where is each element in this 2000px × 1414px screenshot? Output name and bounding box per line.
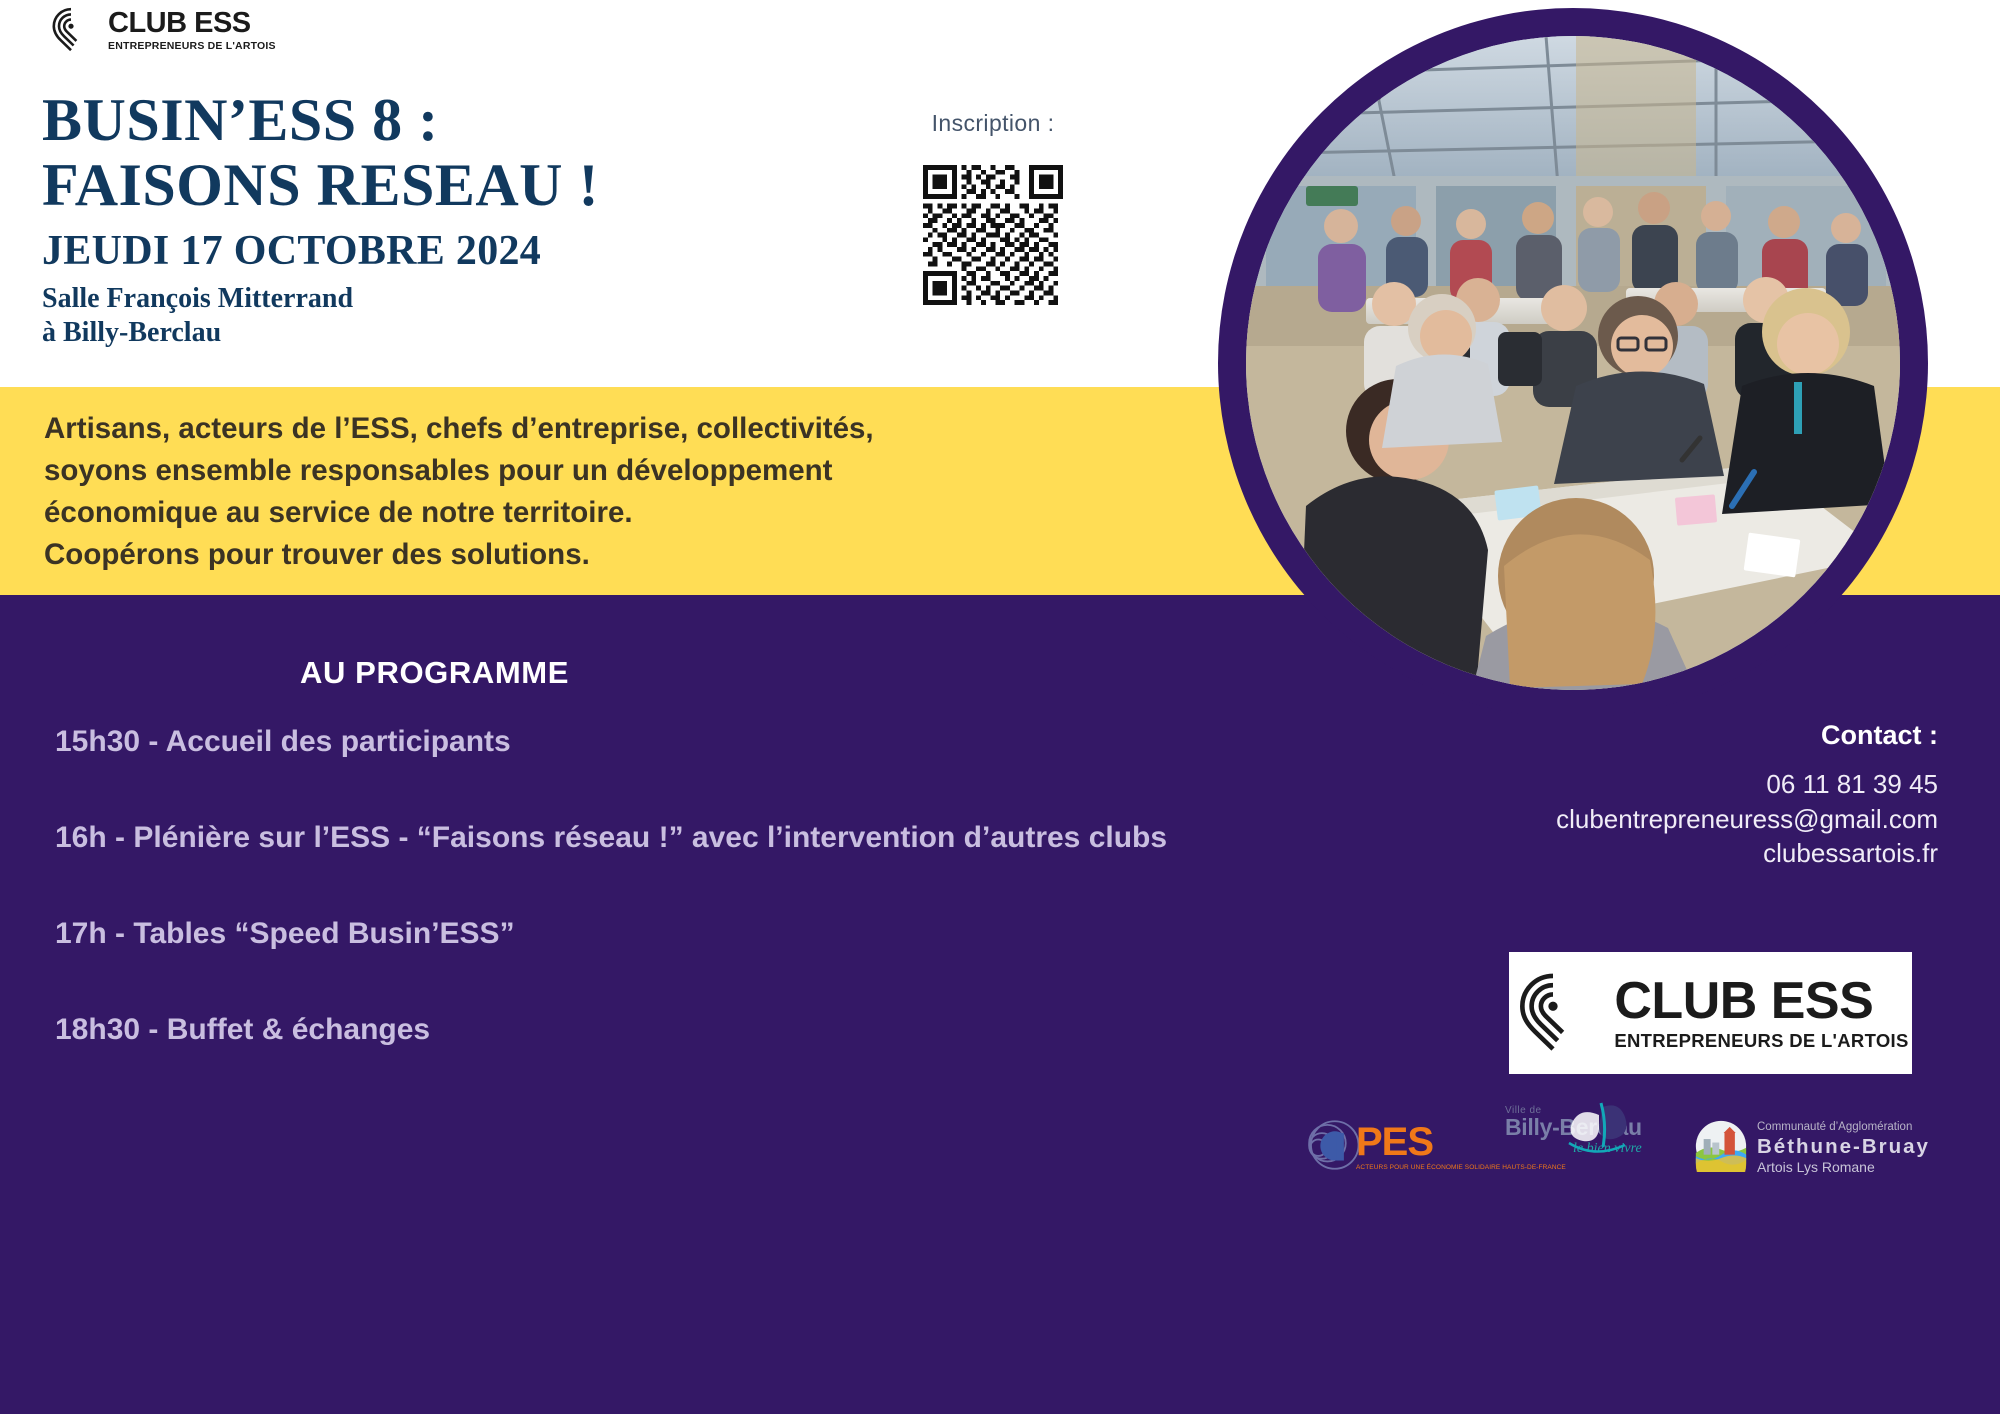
billy-butterfly-icon (1563, 1099, 1633, 1164)
contact-block: Contact : 06 11 81 39 45 clubentrepreneu… (1318, 720, 1938, 871)
brand-name: CLUB ESS (108, 9, 276, 38)
event-venue: Salle François Mitterrand à Billy-Bercla… (42, 282, 902, 350)
bethune-name: Béthune-Bruay (1757, 1135, 1930, 1159)
bethune-crest-icon (1695, 1120, 1747, 1177)
partner-billy-berclau-logo: Ville de Billy-Berclau le bien vivre (1505, 1105, 1642, 1157)
partner-logos: PES ACTEURS POUR UNE ÉCONOMIE SOLIDAIRE … (1290, 1105, 1930, 1215)
event-photo (1246, 36, 1900, 690)
contact-email[interactable]: clubentrepreneuress@gmail.com (1318, 802, 1938, 837)
programme-heading: AU PROGRAMME (300, 655, 569, 691)
inscription-label: Inscription : (888, 110, 1098, 137)
banner-line-1: Artisans, acteurs de l’ESS, chefs d’entr… (44, 412, 874, 445)
club-ess-logo-header: CLUB ESS ENTREPRENEURS DE L'ARTOIS (48, 6, 276, 54)
banner-line-3: économique au service de notre territoir… (44, 496, 633, 529)
title-line-2: FAISONS RESEAU ! (42, 152, 599, 218)
club-ess-wordmark: CLUB ESS ENTREPRENEURS DE L'ARTOIS (108, 9, 276, 52)
bethune-top-label: Communauté d’Agglomération (1757, 1121, 1930, 1135)
brand-name: CLUB ESS (1614, 975, 1908, 1027)
programme-item: 16h - Plénière sur l’ESS - “Faisons rése… (55, 818, 1175, 858)
apes-subtitle: ACTEURS POUR UNE ÉCONOMIE SOLIDAIRE HAUT… (1356, 1164, 1566, 1172)
inscription-block: Inscription : (888, 110, 1098, 305)
club-ess-pin-icon (48, 6, 94, 54)
event-photo-circle (1218, 8, 1928, 718)
event-poster: CLUB ESS ENTREPRENEURS DE L'ARTOIS BUSIN… (0, 0, 2000, 1414)
banner-text: Artisans, acteurs de l’ESS, chefs d’entr… (44, 408, 1074, 576)
contact-website[interactable]: clubessartois.fr (1318, 836, 1938, 871)
venue-line-2: à Billy-Berclau (42, 317, 221, 348)
club-ess-logo-footer: CLUB ESS ENTREPRENEURS DE L'ARTOIS (1509, 952, 1912, 1074)
contact-heading: Contact : (1318, 720, 1938, 751)
brand-tagline: ENTREPRENEURS DE L'ARTOIS (1614, 1032, 1908, 1051)
partner-bethune-bruay-logo: Communauté d’Agglomération Béthune-Bruay… (1695, 1120, 1930, 1177)
brand-tagline: ENTREPRENEURS DE L'ARTOIS (108, 41, 276, 52)
page-title: BUSIN’ESS 8 : FAISONS RESEAU ! (42, 88, 902, 218)
bethune-bottom-label: Artois Lys Romane (1757, 1159, 1930, 1176)
apes-circles-icon (1300, 1113, 1364, 1182)
programme-item: 18h30 - Buffet & échanges (55, 1010, 1175, 1050)
club-ess-pin-icon (1512, 970, 1594, 1056)
contact-phone[interactable]: 06 11 81 39 45 (1318, 767, 1938, 802)
banner-line-2: soyons ensemble responsables pour un dév… (44, 454, 833, 487)
title-block: BUSIN’ESS 8 : FAISONS RESEAU ! JEUDI 17 … (42, 88, 902, 350)
banner-line-4: Coopérons pour trouver des solutions. (44, 538, 590, 571)
club-ess-wordmark: CLUB ESS ENTREPRENEURS DE L'ARTOIS (1614, 975, 1908, 1051)
venue-line-1: Salle François Mitterrand (42, 283, 353, 314)
title-line-1: BUSIN’ESS 8 : (42, 87, 439, 153)
programme-item: 17h - Tables “Speed Busin’ESS” (55, 914, 1175, 954)
programme-item: 15h30 - Accueil des participants (55, 722, 1175, 762)
qr-code-icon[interactable] (923, 165, 1063, 305)
event-date: JEUDI 17 OCTOBRE 2024 (42, 228, 902, 274)
programme-list: 15h30 - Accueil des participants 16h - P… (55, 722, 1175, 1106)
